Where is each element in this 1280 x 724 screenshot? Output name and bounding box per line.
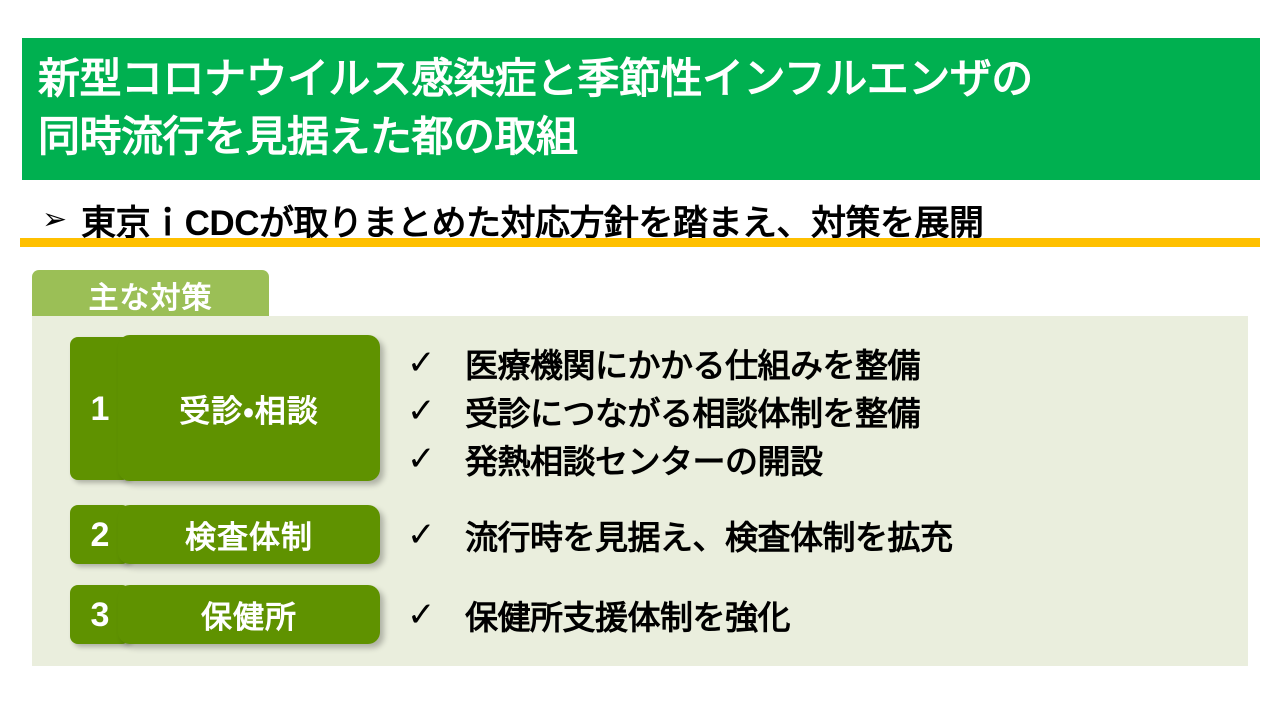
slide-title-line-1: 新型コロナウイルス感染症と季節性インフルエンザの [38, 50, 1244, 108]
measure-check-list: ✓ 保健所支援体制を強化 [407, 591, 1237, 639]
measure-number-label: 2 [91, 518, 110, 552]
main-measures-tab-label: 主な対策 [89, 273, 213, 317]
check-item-label: 保健所支援体制を強化 [465, 591, 790, 639]
slide-title-banner: 新型コロナウイルス感染症と季節性インフルエンザの 同時流行を見据えた都の取組 [22, 38, 1260, 180]
measure-row: 2 検査体制 ✓ 流行時を見据え、検査体制を拡充 [32, 505, 1248, 567]
check-list-item: ✓ 医療機関にかかる仕組みを整備 [407, 339, 1237, 387]
measure-check-list: ✓ 流行時を見据え、検査体制を拡充 [407, 511, 1237, 559]
measure-row: 1 受診・相談 ✓ 医療機関にかかる仕組みを整備 ✓ 受診につながる相談体制を整… [32, 335, 1248, 481]
check-list-item: ✓ 保健所支援体制を強化 [407, 591, 1237, 639]
measure-category-box: 受診・相談 [118, 335, 380, 481]
check-icon: ✓ [407, 442, 465, 476]
subtitle-underline [20, 238, 1260, 247]
measure-check-list: ✓ 医療機関にかかる仕組みを整備 ✓ 受診につながる相談体制を整備 ✓ 発熱相談… [407, 339, 1237, 483]
check-icon: ✓ [407, 598, 465, 632]
measure-category-label: 検査体制 [185, 512, 313, 557]
check-list-item: ✓ 流行時を見据え、検査体制を拡充 [407, 511, 1237, 559]
check-item-label: 流行時を見据え、検査体制を拡充 [465, 511, 953, 559]
check-item-label: 医療機関にかかる仕組みを整備 [465, 339, 920, 387]
check-icon: ✓ [407, 394, 465, 428]
measure-number-label: 1 [91, 392, 110, 426]
measure-row: 3 保健所 ✓ 保健所支援体制を強化 [32, 585, 1248, 647]
measures-panel: 1 受診・相談 ✓ 医療機関にかかる仕組みを整備 ✓ 受診につながる相談体制を整… [32, 316, 1248, 666]
check-list-item: ✓ 受診につながる相談体制を整備 [407, 387, 1237, 435]
slide-canvas: 新型コロナウイルス感染症と季節性インフルエンザの 同時流行を見据えた都の取組 ➢… [0, 0, 1280, 724]
slide-title-line-2: 同時流行を見据えた都の取組 [38, 108, 1244, 166]
measure-category-box: 保健所 [118, 585, 380, 644]
measure-category-box: 検査体制 [118, 505, 380, 564]
measure-category-label: 保健所 [201, 592, 297, 637]
check-item-label: 受診につながる相談体制を整備 [465, 387, 920, 435]
check-list-item: ✓ 発熱相談センターの開設 [407, 435, 1237, 483]
check-icon: ✓ [407, 518, 465, 552]
check-item-label: 発熱相談センターの開設 [465, 435, 823, 483]
arrow-bullet-icon: ➢ [42, 205, 67, 235]
measure-category-label: 受診・相談 [179, 386, 319, 431]
main-measures-tab: 主な対策 [32, 270, 269, 320]
measure-number-label: 3 [91, 598, 110, 632]
check-icon: ✓ [407, 346, 465, 380]
